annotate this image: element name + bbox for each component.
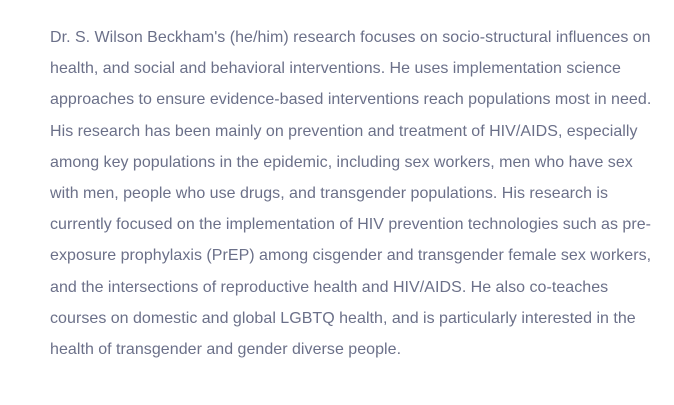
biography-panel: Dr. S. Wilson Beckham's (he/him) researc…: [0, 0, 674, 405]
biography-paragraph: Dr. S. Wilson Beckham's (he/him) researc…: [50, 22, 656, 365]
